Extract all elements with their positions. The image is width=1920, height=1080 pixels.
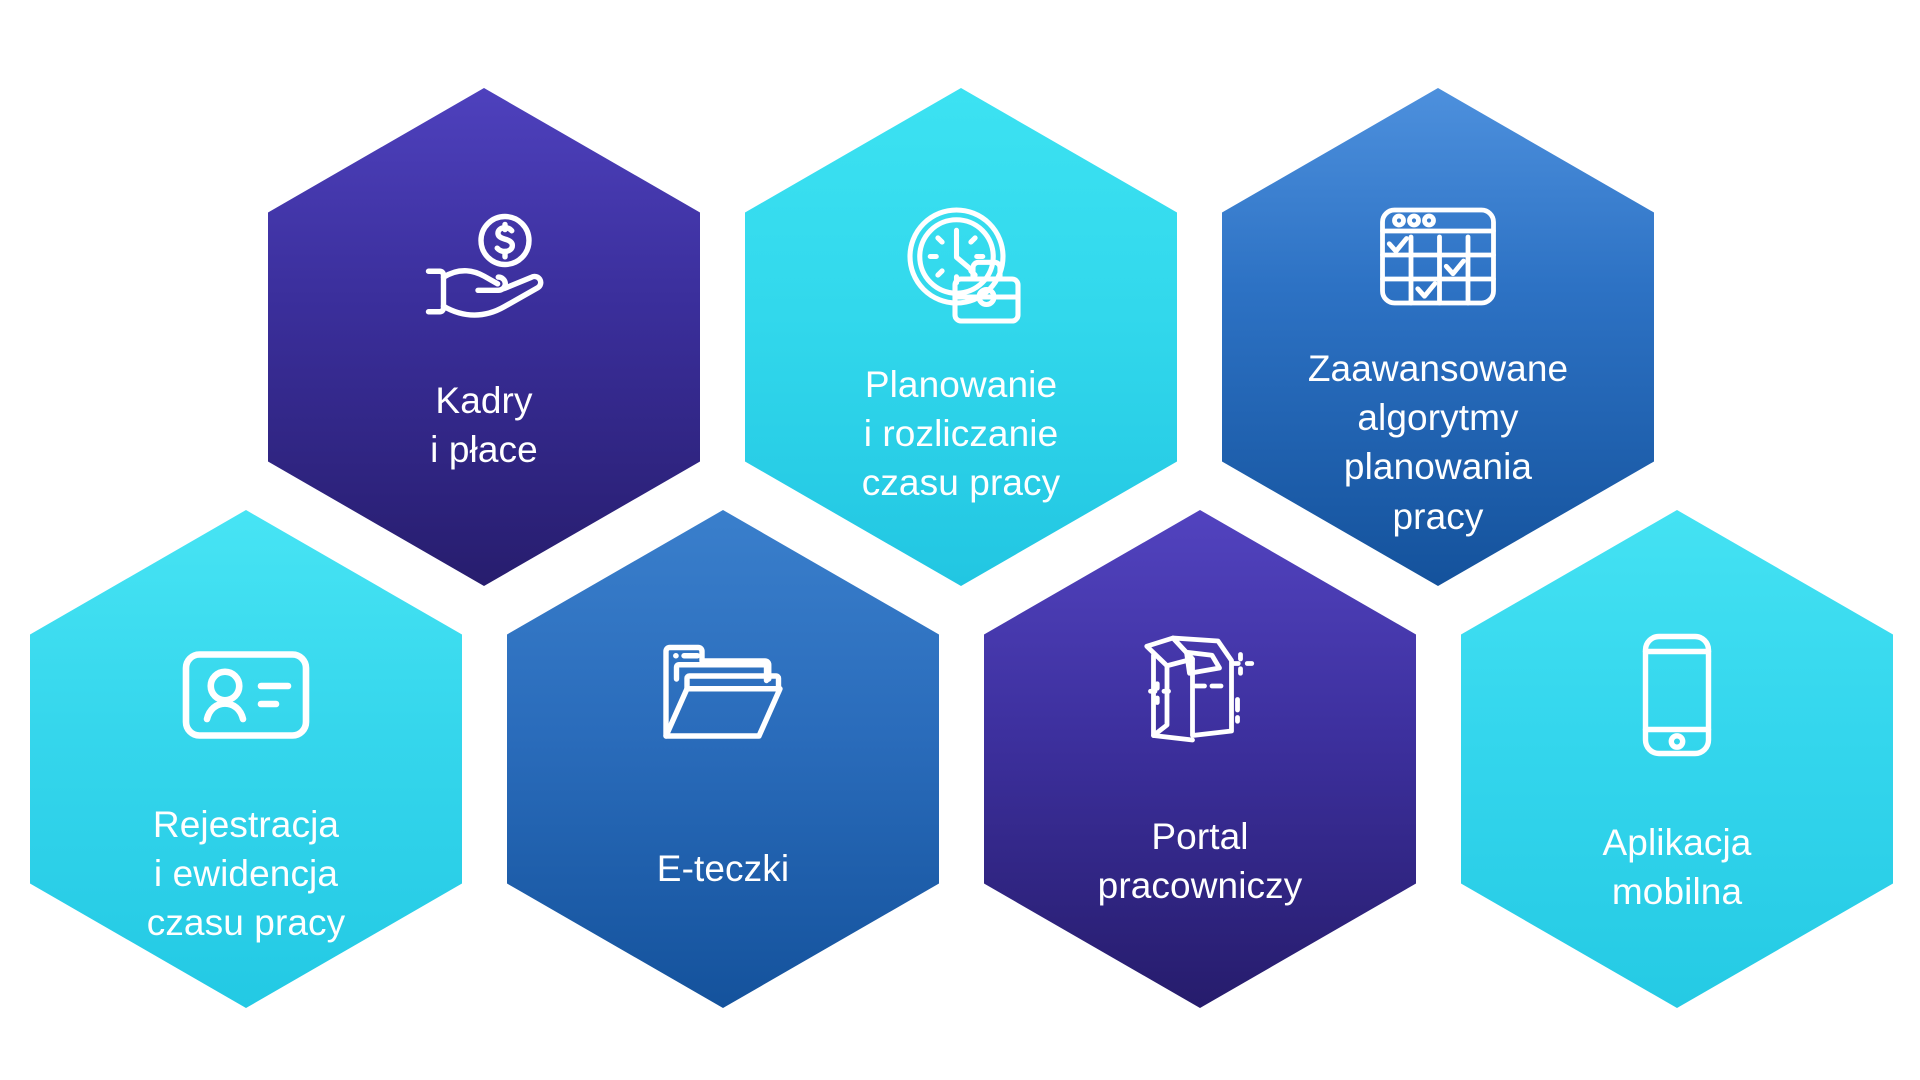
self-service-kiosk-icon <box>1125 614 1275 764</box>
hex-tile-label: E-teczki <box>645 844 801 893</box>
hand-holding-dollar-coin-icon <box>409 200 559 350</box>
hex-tile-label: Kadry i płace <box>418 376 550 474</box>
hex-tile-label: Aplikacja mobilna <box>1591 818 1764 916</box>
hex-tile-label: Portal pracowniczy <box>1086 812 1315 910</box>
hex-tile-planowanie-i-rozliczanie-czasu-pracy[interactable]: Planowanie i rozliczanie czasu pracy <box>745 88 1177 586</box>
hex-tile-rejestracja-i-ewidencja-czasu-pracy[interactable]: Rejestracja i ewidencja czasu pracy <box>30 510 462 1008</box>
hex-tile-aplikacja-mobilna[interactable]: Aplikacja mobilna <box>1461 510 1893 1008</box>
schedule-grid-checkmarks-icon <box>1363 180 1513 330</box>
hex-tile-portal-pracowniczy[interactable]: Portal pracowniczy <box>984 510 1416 1008</box>
hex-tile-kadry-i-place[interactable]: Kadry i płace <box>268 88 700 586</box>
hex-tile-zaawansowane-algorytmy-planowania-pracy[interactable]: Zaawansowane algorytmy planowania pracy <box>1222 88 1654 586</box>
hex-tile-label: Zaawansowane algorytmy planowania pracy <box>1296 344 1580 541</box>
hexagon-feature-grid: Kadry i płace Planowanie i rozliczanie c… <box>0 0 1920 1080</box>
id-card-person-icon <box>171 620 321 770</box>
hex-tile-label: Rejestracja i ewidencja czasu pracy <box>135 800 358 948</box>
open-folder-documents-icon <box>648 622 798 772</box>
hex-tile-label: Planowanie i rozliczanie czasu pracy <box>850 360 1073 508</box>
clock-briefcase-icon <box>886 192 1036 342</box>
hex-tile-e-teczki[interactable]: E-teczki <box>507 510 939 1008</box>
smartphone-icon <box>1602 620 1752 770</box>
